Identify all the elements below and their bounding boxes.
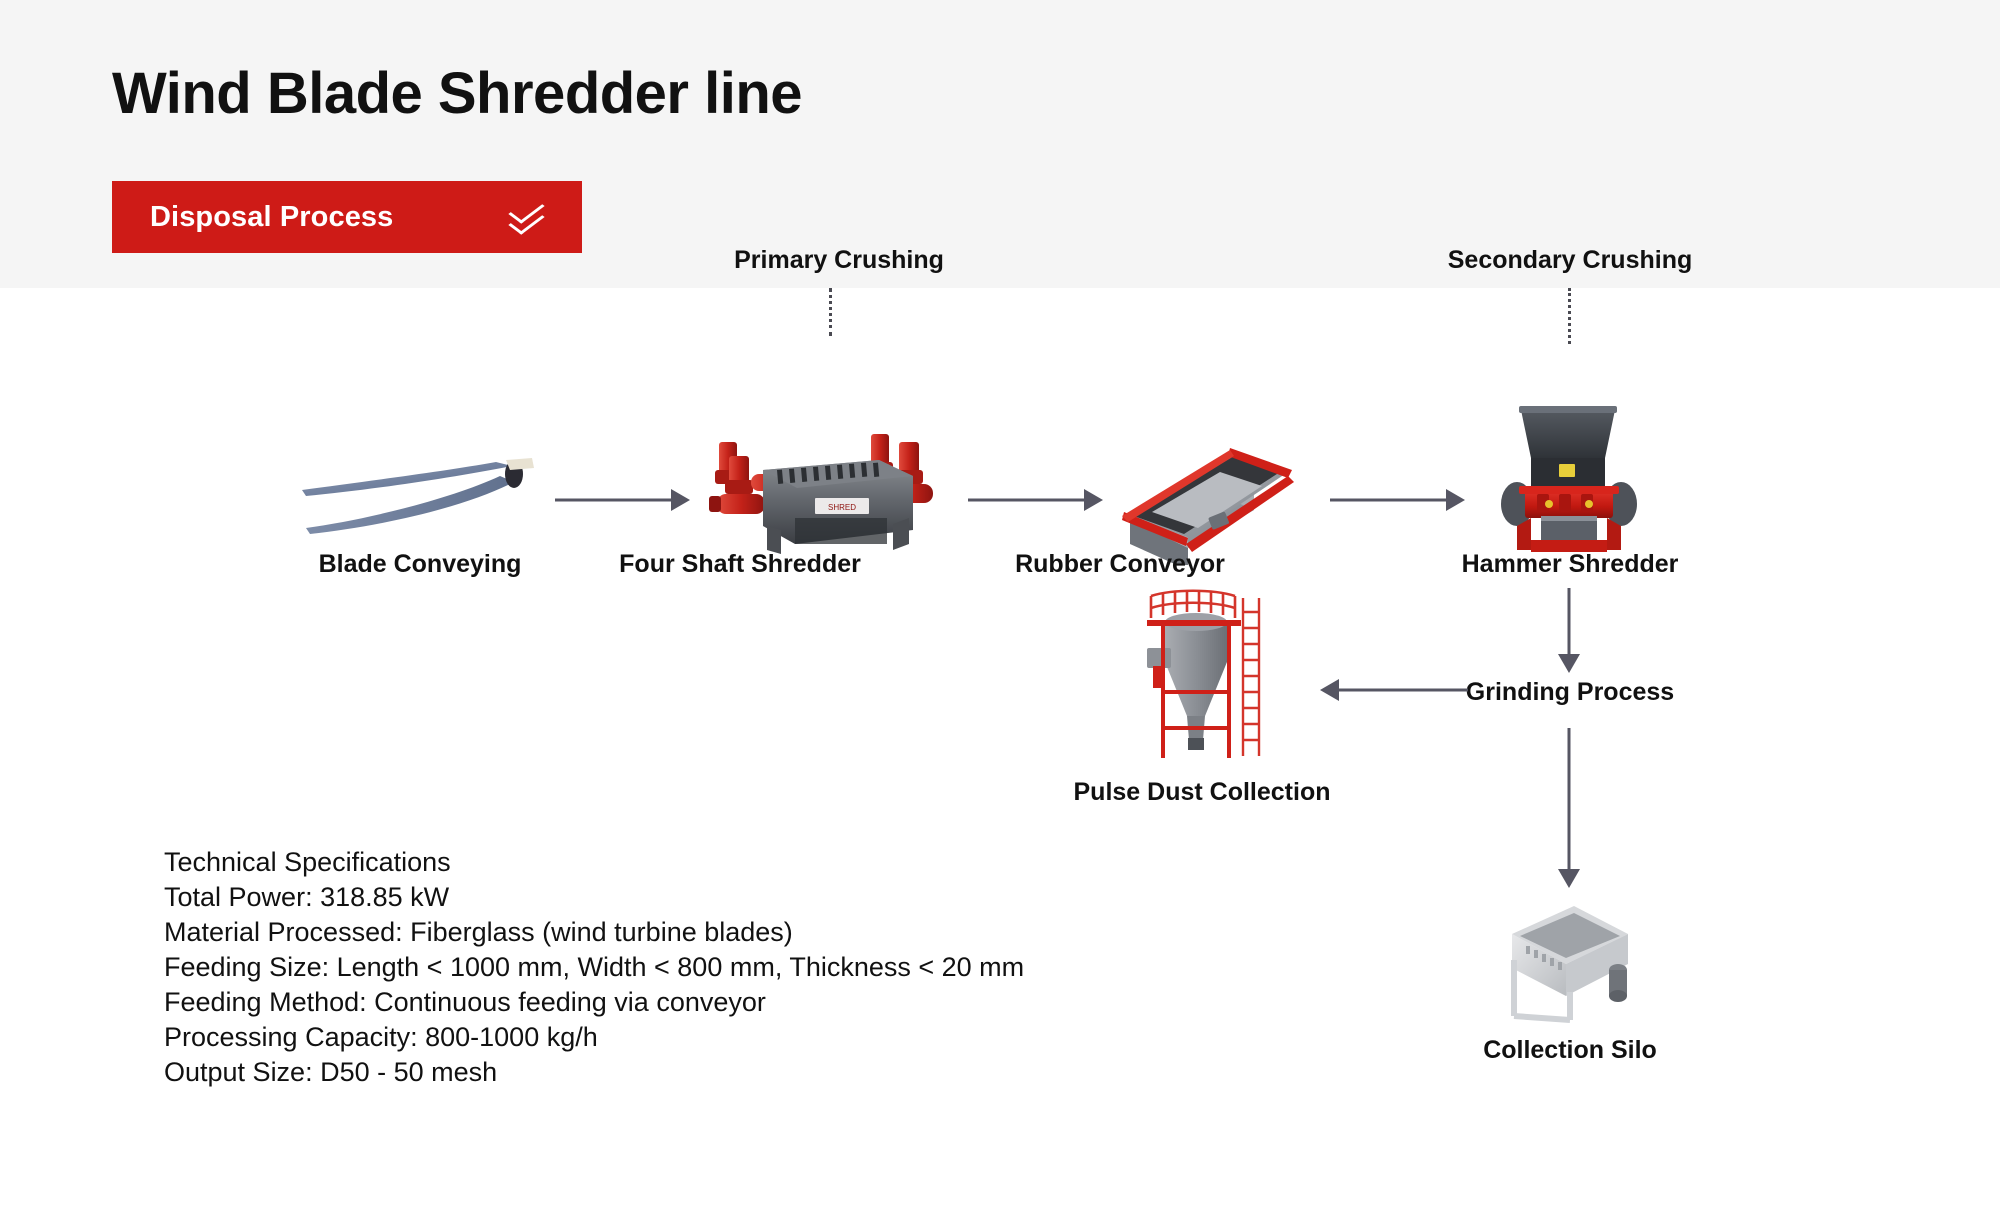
specs-heading: Technical Specifications [164, 845, 1024, 880]
arrow-grinding-to-collection-silo [1556, 728, 1582, 888]
dotted-connector-secondary [1568, 288, 1571, 344]
hammer-shredder-icon [1497, 398, 1642, 558]
specs-line-material-processed: Material Processed: Fiberglass (wind tur… [164, 915, 1024, 950]
wind-turbine-blade-icon [300, 456, 540, 546]
stage-label-pulse-dust-collection: Pulse Dust Collection [1022, 778, 1382, 807]
specs-line-feeding-method: Feeding Method: Continuous feeding via c… [164, 985, 1024, 1020]
specs-line-total-power: Total Power: 318.85 kW [164, 880, 1024, 915]
disposal-process-label: Disposal Process [150, 201, 393, 234]
header-band: Wind Blade Shredder line Disposal Proces… [0, 0, 2000, 288]
specs-line-feeding-size: Feeding Size: Length < 1000 mm, Width < … [164, 950, 1024, 985]
four-shaft-shredder-icon: SHRED [703, 418, 953, 558]
page-title: Wind Blade Shredder line [112, 60, 802, 127]
arrow-blade-to-shredder [555, 488, 690, 512]
phase-label-primary-crushing: Primary Crushing [714, 246, 964, 275]
disposal-process-button[interactable]: Disposal Process [112, 181, 582, 253]
double-chevron-down-icon [512, 202, 546, 232]
arrow-grinding-to-dust-collection [1320, 678, 1468, 702]
arrow-conveyor-to-hammer [1330, 488, 1465, 512]
specs-line-processing-capacity: Processing Capacity: 800-1000 kg/h [164, 1020, 1024, 1055]
specs-line-output-size: Output Size: D50 - 50 mesh [164, 1055, 1024, 1090]
arrow-hammer-to-grinding [1556, 588, 1582, 673]
dotted-connector-primary [829, 288, 832, 336]
arrow-shredder-to-conveyor [968, 488, 1103, 512]
stage-label-collection-silo: Collection Silo [1390, 1036, 1750, 1065]
pulse-dust-collector-icon [1131, 588, 1271, 768]
collection-silo-icon [1500, 898, 1640, 1023]
technical-specifications: Technical Specifications Total Power: 31… [164, 845, 1024, 1090]
svg-text:SHRED: SHRED [828, 503, 856, 512]
stage-label-hammer-shredder: Hammer Shredder [1390, 550, 1750, 579]
stage-label-rubber-conveyor: Rubber Conveyor [940, 550, 1300, 579]
stage-label-blade-conveying: Blade Conveying [240, 550, 600, 579]
phase-label-secondary-crushing: Secondary Crushing [1440, 246, 1700, 275]
stage-label-four-shaft-shredder: Four Shaft Shredder [560, 550, 920, 579]
rubber-conveyor-icon [1112, 440, 1317, 565]
